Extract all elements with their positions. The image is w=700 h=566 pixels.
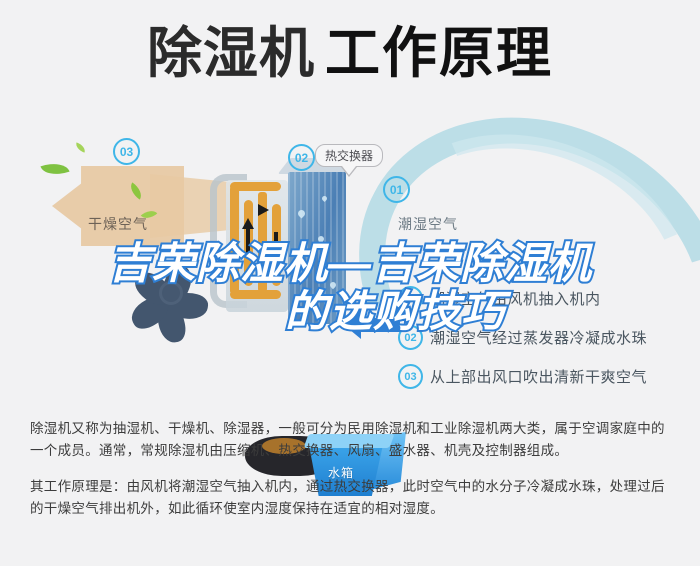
step-badge-03: 03	[113, 138, 140, 165]
step-badge-02: 02	[288, 144, 315, 171]
heat-exchanger-callout: 热交换器	[315, 144, 383, 167]
flow-arrow-stem	[274, 232, 278, 258]
dry-air-arrow-icon	[52, 166, 184, 246]
paragraph-definition: 除湿机又称为抽湿机、干燥机、除湿器，一般可分为民用除湿机和工业除湿机两大类，属于…	[30, 418, 675, 462]
copper-coil-icon	[230, 186, 239, 294]
body-copy: 除湿机又称为抽湿机、干燥机、除湿器，一般可分为民用除湿机和工业除湿机两大类，属于…	[30, 418, 675, 532]
legend-item: 03 从上部出风口吹出清新干爽空气	[398, 364, 698, 389]
legend-badge-03: 03	[398, 364, 423, 389]
legend-text-01: 潮湿空气由风机抽入机内	[430, 288, 601, 309]
legend-text-02: 潮湿空气经过蒸发器冷凝成水珠	[430, 327, 647, 348]
flow-arrow-down-icon	[270, 258, 282, 269]
legend-text-03: 从上部出风口吹出清新干爽空气	[430, 366, 647, 387]
title-segment-principle: 工作原理	[325, 22, 553, 84]
heat-exchanger-label: 热交换器	[315, 144, 383, 167]
paragraph-principle: 其工作原理是：由风机将潮湿空气抽入机内，通过热交换器，此时空气中的水分子冷凝成水…	[30, 476, 675, 520]
copper-coil-icon	[230, 290, 281, 299]
legend-badge-02: 02	[398, 325, 423, 350]
intake-air-arrow-icon	[360, 318, 400, 332]
infographic-page: 除湿机工作原理 03 干燥空气	[0, 0, 700, 566]
flow-arrow-right-icon	[258, 204, 269, 216]
humid-air-label: 潮湿空气	[398, 214, 458, 234]
title-segment-product: 除湿机	[147, 22, 315, 84]
evaporator-fins-icon	[288, 172, 346, 324]
legend-item: 01 潮湿空气由风机抽入机内	[398, 286, 698, 311]
leaf-icon	[40, 158, 69, 179]
legend-item: 02 潮湿空气经过蒸发器冷凝成水珠	[398, 325, 698, 350]
leaf-icon	[74, 142, 87, 152]
flow-arrow-stem	[246, 228, 250, 254]
step-badge-01: 01	[383, 176, 410, 203]
flow-arrow-up-icon	[242, 218, 254, 229]
page-title: 除湿机工作原理	[0, 22, 700, 84]
legend-badge-01: 01	[398, 286, 423, 311]
dry-air-label: 干燥空气	[88, 214, 148, 234]
working-principle-diagram: 03 干燥空气	[0, 118, 700, 400]
steps-legend: 01 潮湿空气由风机抽入机内 02 潮湿空气经过蒸发器冷凝成水珠 03 从上部出…	[398, 286, 698, 403]
